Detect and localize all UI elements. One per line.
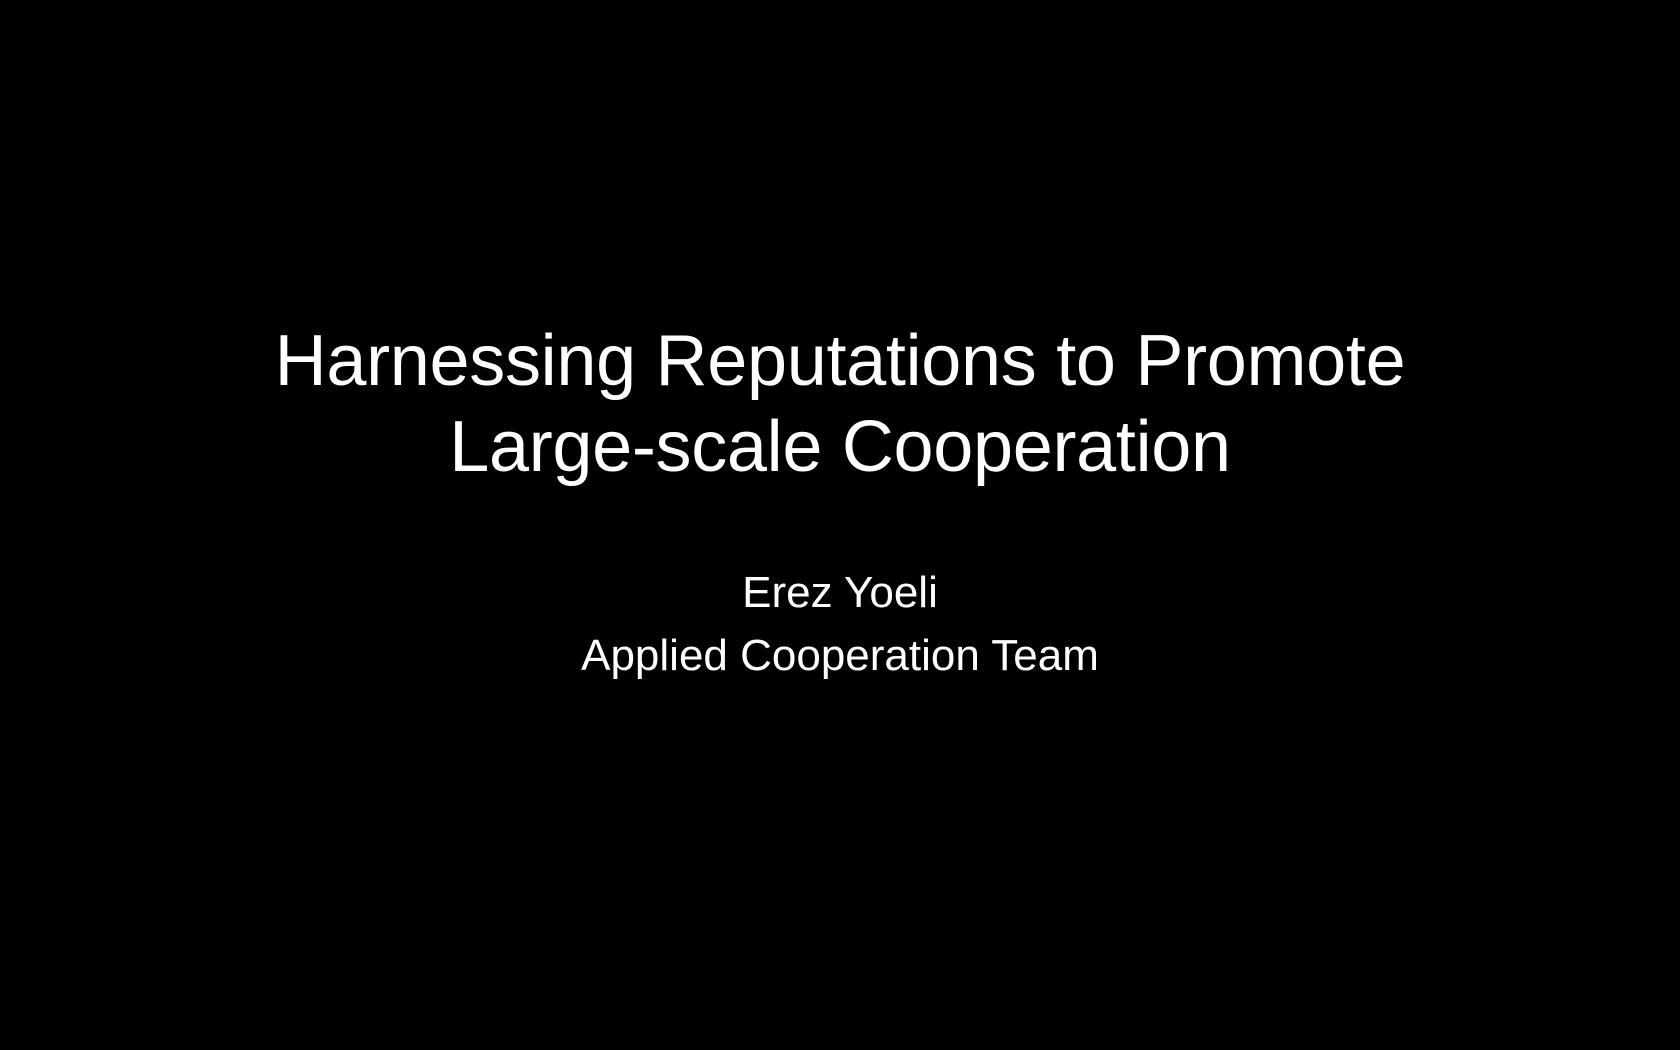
slide-title-block: Harnessing Reputations to Promote Large-…: [0, 318, 1680, 490]
presenter-affiliation: Applied Cooperation Team: [0, 625, 1680, 687]
slide-subtitle-block: Erez Yoeli Applied Cooperation Team: [0, 562, 1680, 687]
presenter-name: Erez Yoeli: [0, 562, 1680, 624]
presentation-slide: Harnessing Reputations to Promote Large-…: [0, 0, 1680, 1050]
slide-title-line-2: Large-scale Cooperation: [0, 404, 1680, 490]
slide-title-line-1: Harnessing Reputations to Promote: [0, 318, 1680, 404]
